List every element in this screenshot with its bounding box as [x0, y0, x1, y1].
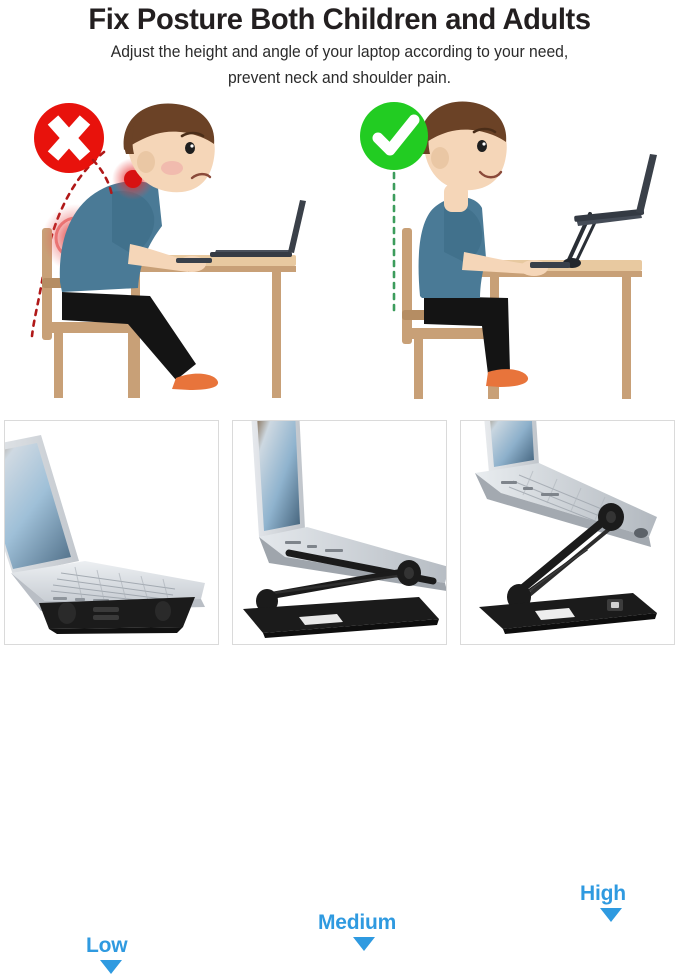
good-posture-scene: [340, 92, 679, 414]
external-keyboard: [530, 262, 570, 268]
laptop-on-stand: [563, 154, 657, 268]
laptop-screen: [251, 421, 305, 537]
posture-comparison: [0, 92, 679, 414]
product-feature-image: Fix Posture Both Children and Adults Adj…: [0, 0, 679, 650]
shoe: [486, 369, 528, 387]
header: Fix Posture Both Children and Adults Adj…: [0, 0, 679, 90]
panel-low: [4, 420, 219, 645]
laptop-screen: [5, 435, 79, 575]
page-title: Fix Posture Both Children and Adults: [10, 0, 669, 37]
laptop-body: [475, 463, 657, 547]
arrow-down-icon-low: [100, 960, 122, 974]
arrow-down-icon-medium: [353, 937, 375, 951]
bad-posture-scene: [0, 92, 339, 414]
stand-base-flat: [39, 597, 195, 634]
subtitle-line-2: prevent neck and shoulder pain.: [17, 63, 662, 90]
arrow-down-icon-high: [600, 908, 622, 922]
laptop-flat-on-desk: [210, 200, 306, 257]
label-high: High: [580, 882, 626, 906]
stand-base: [479, 593, 657, 634]
subtitle-line-1: Adjust the height and angle of your lapt…: [17, 37, 662, 64]
panel-medium: [232, 420, 447, 645]
mouse-pad: [176, 258, 212, 263]
label-low: Low: [86, 934, 127, 958]
check-mark-badge: [360, 102, 428, 170]
height-level-panels: Low Medium High: [0, 420, 679, 650]
label-medium: Medium: [318, 911, 396, 935]
panel-high: [460, 420, 675, 645]
head: [420, 101, 507, 190]
